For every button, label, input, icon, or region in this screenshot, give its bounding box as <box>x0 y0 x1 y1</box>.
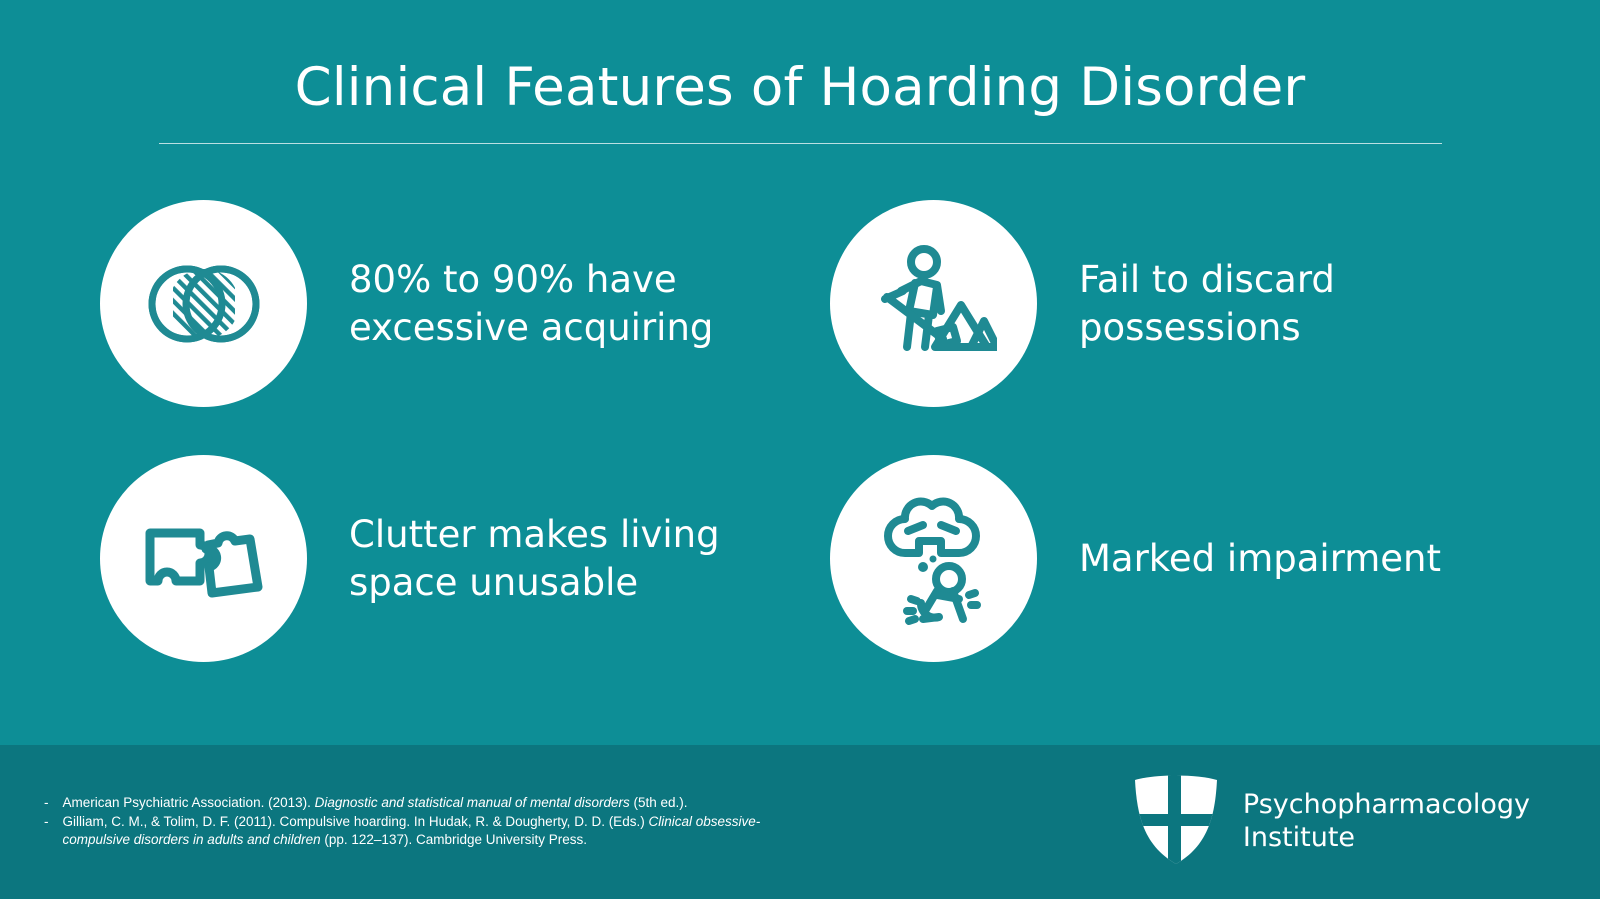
brand-name-line1: Psychopharmacology <box>1243 789 1530 820</box>
reference-bullet: - <box>44 813 49 832</box>
brand-name: Psychopharmacology Institute <box>1243 789 1530 855</box>
feature-label-4: Marked impairment <box>1079 535 1441 583</box>
feature-item-discard: Fail to discard possessions <box>830 176 1560 431</box>
icon-circle-2 <box>830 200 1037 407</box>
feature-item-acquiring: 80% to 90% have excessive acquiring <box>100 176 830 431</box>
feature-label-1: 80% to 90% have excessive acquiring <box>349 256 779 352</box>
icon-circle-3 <box>100 455 307 662</box>
feature-item-impairment: Marked impairment <box>830 431 1560 686</box>
person-digging-pile-icon <box>871 243 997 365</box>
distressed-person-cloud-icon <box>875 491 993 627</box>
shield-cross-icon <box>1131 774 1221 871</box>
reference-item: - Gilliam, C. M., & Tolim, D. F. (2011).… <box>44 813 804 850</box>
reference-text-2: Gilliam, C. M., & Tolim, D. F. (2011). C… <box>63 813 805 850</box>
slide-root: Clinical Features of Hoarding Disorder <box>0 0 1600 899</box>
reference-bullet: - <box>44 794 49 813</box>
icon-circle-1 <box>100 200 307 407</box>
brand-logo: Psychopharmacology Institute <box>1131 774 1570 871</box>
reference-item: - American Psychiatric Association. (201… <box>44 794 804 813</box>
feature-label-3: Clutter makes living space unusable <box>349 511 779 607</box>
venn-diagram-icon <box>143 261 265 347</box>
feature-label-2: Fail to discard possessions <box>1079 256 1509 352</box>
brand-name-line2: Institute <box>1243 822 1530 855</box>
puzzle-pieces-icon <box>142 519 266 599</box>
reference-text-1: American Psychiatric Association. (2013)… <box>63 794 805 813</box>
footer-bar: - American Psychiatric Association. (201… <box>0 745 1600 899</box>
page-title: Clinical Features of Hoarding Disorder <box>0 58 1600 117</box>
reference-list: - American Psychiatric Association. (201… <box>44 794 804 850</box>
title-zone: Clinical Features of Hoarding Disorder <box>0 0 1600 144</box>
icon-circle-4 <box>830 455 1037 662</box>
feature-item-clutter: Clutter makes living space unusable <box>100 431 830 686</box>
